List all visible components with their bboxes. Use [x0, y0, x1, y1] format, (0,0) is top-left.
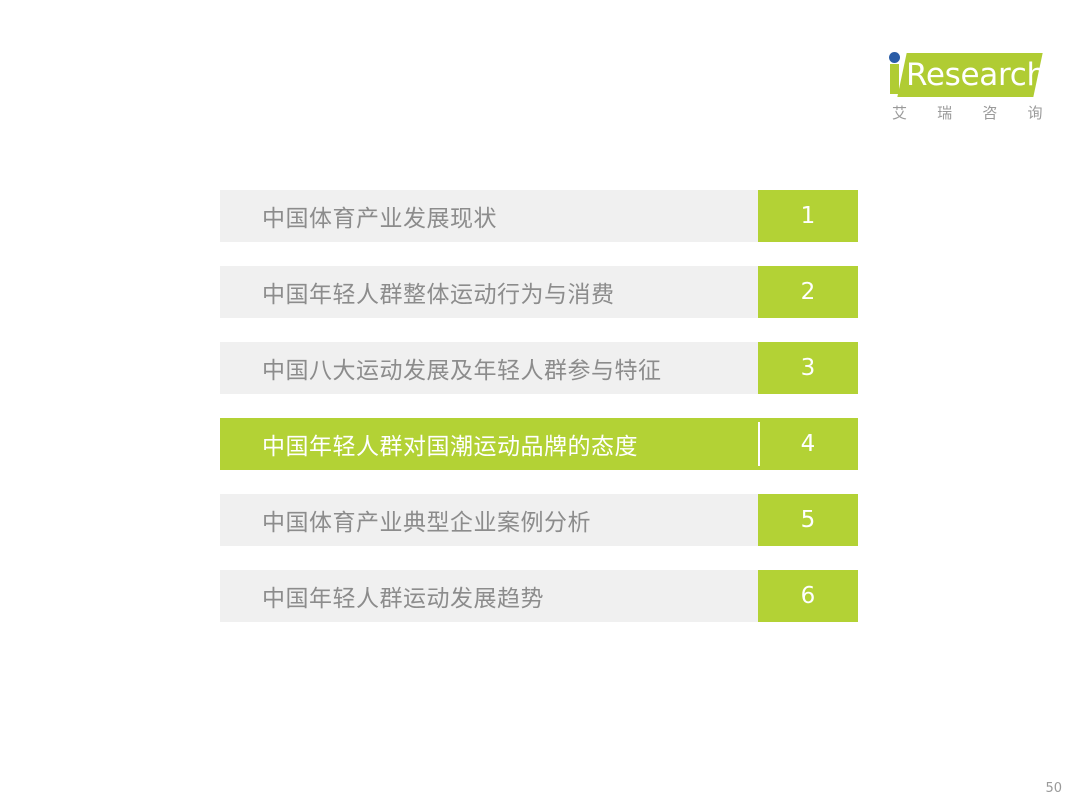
agenda-row[interactable]: 中国八大运动发展及年轻人群参与特征 3	[220, 342, 858, 394]
page-number: 50	[1045, 781, 1062, 796]
agenda-row-title: 中国年轻人群运动发展趋势	[220, 570, 758, 622]
logo-i-dot-icon	[889, 52, 900, 63]
brand-logo: Research 艾 瑞 咨 询	[880, 48, 1040, 130]
logo-i-stem-icon	[890, 64, 899, 94]
agenda-row-title: 中国体育产业典型企业案例分析	[220, 494, 758, 546]
logo-wordmark: Research	[906, 53, 1042, 97]
agenda-row[interactable]: 中国年轻人群运动发展趋势 6	[220, 570, 858, 622]
agenda-row-title: 中国年轻人群对国潮运动品牌的态度	[220, 418, 758, 470]
agenda-row-number: 4	[758, 418, 858, 470]
agenda-row-number: 5	[758, 494, 858, 546]
agenda-row-title: 中国年轻人群整体运动行为与消费	[220, 266, 758, 318]
logo-mark: Research	[880, 48, 1040, 100]
agenda-row-title: 中国八大运动发展及年轻人群参与特征	[220, 342, 758, 394]
agenda-row-active[interactable]: 中国年轻人群对国潮运动品牌的态度 4	[220, 418, 858, 470]
agenda-row-number: 1	[758, 190, 858, 242]
agenda-row-number: 3	[758, 342, 858, 394]
agenda-row[interactable]: 中国体育产业典型企业案例分析 5	[220, 494, 858, 546]
logo-subtitle: 艾 瑞 咨 询	[892, 102, 1056, 123]
agenda-row-number: 6	[758, 570, 858, 622]
agenda-list: 中国体育产业发展现状 1 中国年轻人群整体运动行为与消费 2 中国八大运动发展及…	[220, 190, 858, 622]
agenda-row[interactable]: 中国年轻人群整体运动行为与消费 2	[220, 266, 858, 318]
agenda-row-number: 2	[758, 266, 858, 318]
agenda-row-title: 中国体育产业发展现状	[220, 190, 758, 242]
agenda-row[interactable]: 中国体育产业发展现状 1	[220, 190, 858, 242]
